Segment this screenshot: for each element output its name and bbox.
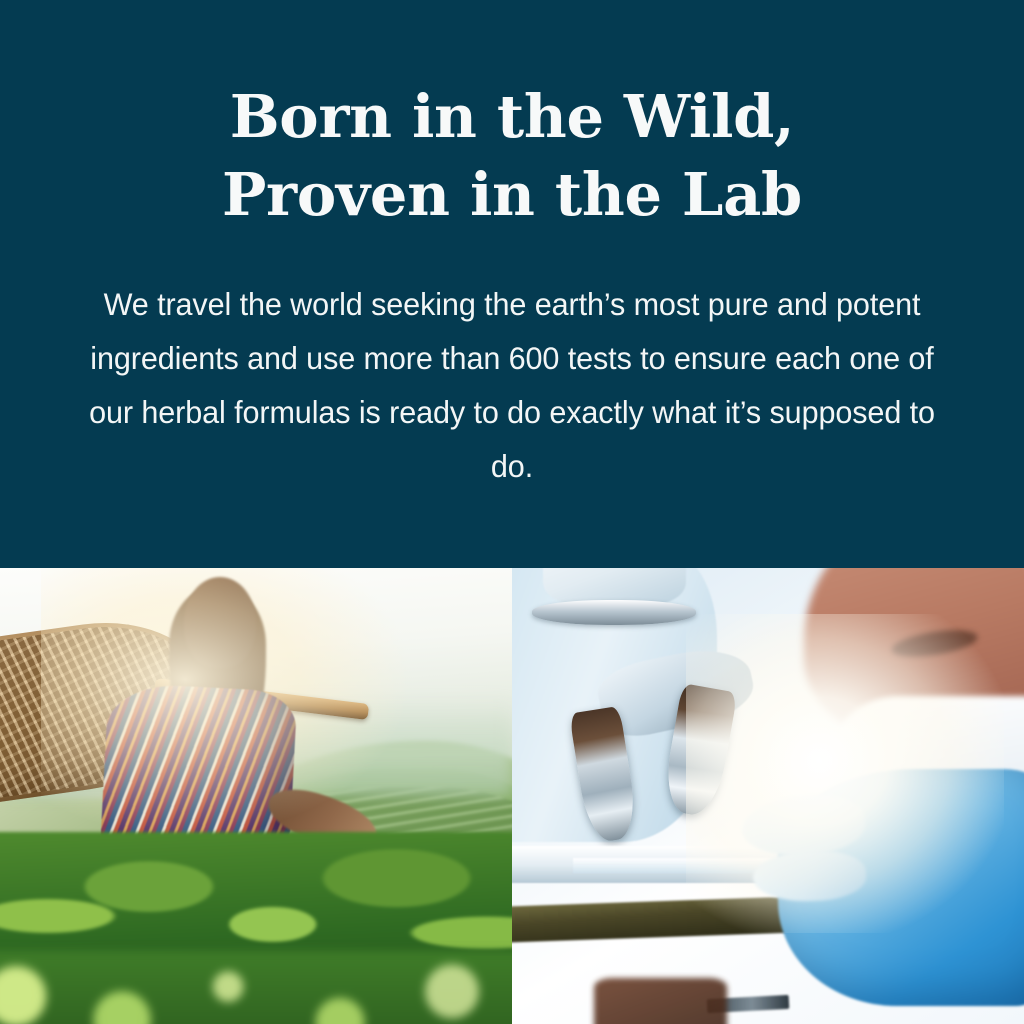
foreground-foliage [0, 951, 512, 1024]
photo-strip: Woman harvesting tea leaves in a terrace… [0, 568, 1024, 1024]
brand-banner: Born in the Wild, Proven in the Lab We t… [0, 0, 1024, 1024]
microscope-metal-ring [532, 600, 696, 625]
harvester-head [184, 577, 256, 668]
photo-lab-microscope: Scientist wearing a face mask and blue n… [512, 568, 1024, 1024]
photo-tea-harvester: Woman harvesting tea leaves in a terrace… [0, 568, 512, 1024]
bench-shadow [594, 978, 727, 1024]
lab-light-flare [686, 614, 1003, 933]
page-title: Born in the Wild, Proven in the Lab [222, 78, 802, 235]
text-panel: Born in the Wild, Proven in the Lab We t… [0, 0, 1024, 568]
headline-line-1: Born in the Wild, [222, 78, 802, 156]
subcopy-paragraph: We travel the world seeking the earth’s … [76, 277, 949, 494]
headline-line-2: Proven in the Lab [222, 156, 802, 234]
